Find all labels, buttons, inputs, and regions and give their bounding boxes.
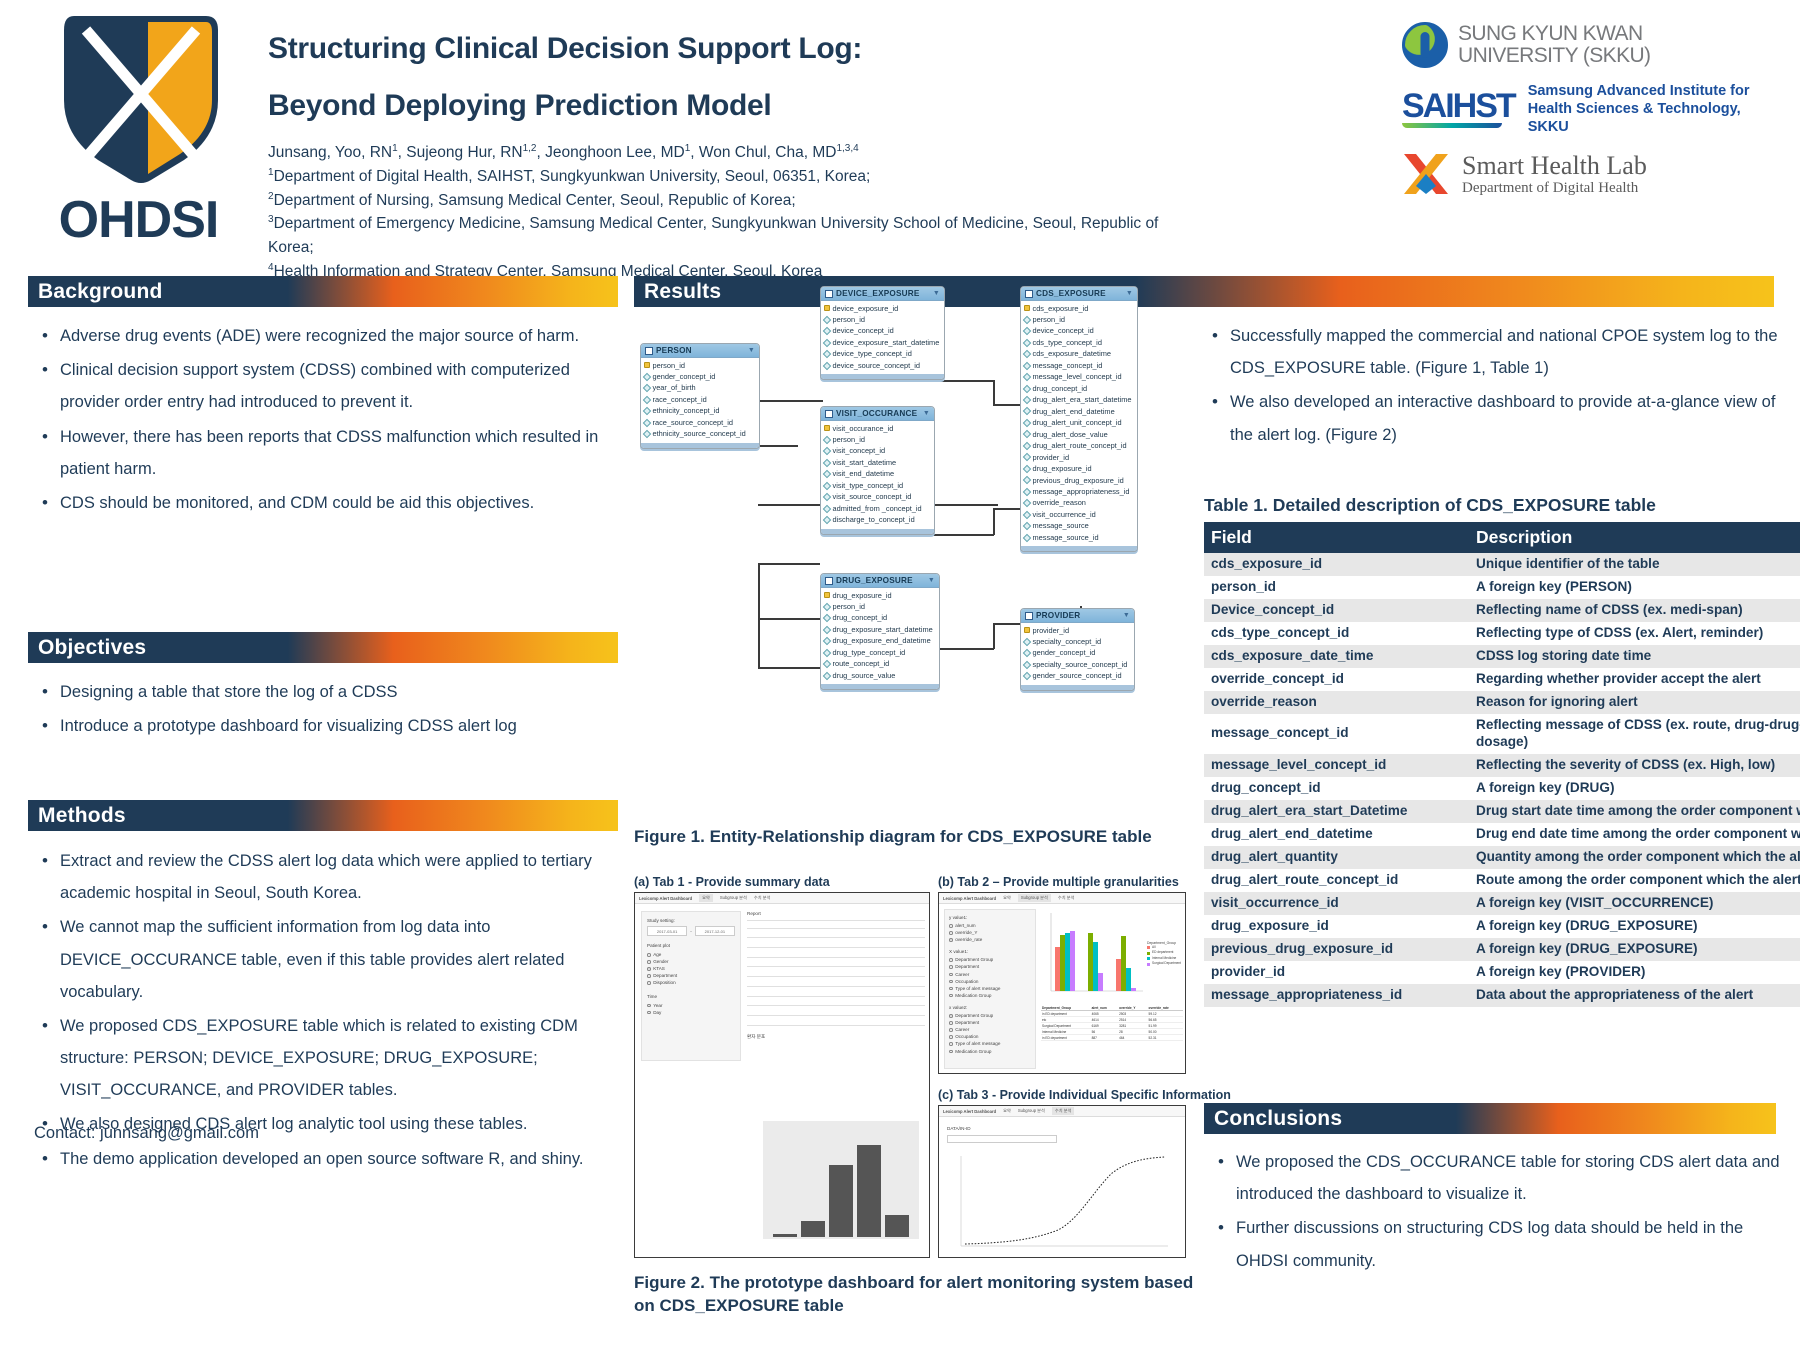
tab2-grouped-bar-chart bbox=[1041, 911, 1145, 999]
er-field-name: cds_exposure_id bbox=[1033, 303, 1089, 314]
er-field-name: person_id bbox=[833, 601, 865, 612]
er-entity-fields: drug_exposure_idperson_iddrug_concept_id… bbox=[821, 588, 939, 684]
radio-icon[interactable] bbox=[949, 1035, 953, 1039]
patient-plot-radio-group[interactable]: AgeGenderKTASDepartmentDisposition bbox=[642, 951, 740, 987]
radio-icon[interactable] bbox=[949, 980, 953, 984]
dashboard-topbar: Lexicomp Alert Dashboard 요약 Subgroup 분석 … bbox=[939, 1106, 1185, 1117]
background-bullet: Adverse drug events (ADE) were recognize… bbox=[34, 320, 614, 352]
foreign-key-icon bbox=[1023, 373, 1031, 381]
table-icon bbox=[1025, 290, 1033, 298]
table1-field: drug_alert_era_start_Datetime bbox=[1204, 800, 1469, 823]
table1-description: Data about the appropriateness of the al… bbox=[1469, 984, 1800, 1007]
dashboard-tab-c-title: (c) Tab 3 - Provide Individual Specific … bbox=[938, 1088, 1231, 1102]
er-field-name: override_reason bbox=[1033, 497, 1086, 508]
poster-title-line2: Beyond Deploying Prediction Model bbox=[268, 85, 1188, 128]
radio-icon[interactable] bbox=[949, 1050, 953, 1054]
table-cell: 52.31 bbox=[1148, 1035, 1183, 1041]
histogram-bar bbox=[829, 1165, 853, 1237]
patient-plot-option[interactable]: Disposition bbox=[647, 979, 740, 986]
er-field: visit_source_concept_id bbox=[824, 491, 931, 502]
er-connector bbox=[993, 623, 1020, 625]
er-field: message_concept_id bbox=[1024, 360, 1134, 371]
er-field: override_reason bbox=[1024, 497, 1134, 508]
foreign-key-icon bbox=[823, 481, 831, 489]
option-label: Medication Group bbox=[955, 993, 991, 998]
radio-icon[interactable] bbox=[949, 938, 953, 942]
foreign-key-icon bbox=[823, 435, 831, 443]
saihst-logo-text: Samsung Advanced Institute for Health Sc… bbox=[1528, 82, 1772, 136]
histogram-bar bbox=[773, 1234, 797, 1237]
er-connector bbox=[758, 667, 820, 669]
patient-plot-option[interactable]: KTAS bbox=[647, 965, 740, 972]
legend-swatch-icon bbox=[1147, 957, 1150, 960]
er-field: person_id bbox=[824, 601, 936, 612]
section-header-objectives: Objectives bbox=[28, 632, 618, 663]
radio-icon[interactable] bbox=[949, 1021, 953, 1025]
radio-icon[interactable] bbox=[949, 973, 953, 977]
tab2-control-panel: y value1: alert_numoverride_Yoverride_ra… bbox=[944, 909, 1036, 1069]
er-field: person_id bbox=[824, 314, 941, 325]
er-field-name: drug_exposure_start_datetime bbox=[833, 624, 933, 635]
option-label: Year bbox=[653, 1003, 662, 1008]
poster-title-line1: Structuring Clinical Decision Support Lo… bbox=[268, 28, 1188, 71]
foreign-key-icon bbox=[1023, 361, 1031, 369]
er-entity-provider: PROVIDER▼provider_idspecialty_concept_id… bbox=[1020, 608, 1135, 691]
xvalue-option[interactable]: Type of alert message bbox=[949, 985, 1035, 992]
section-header-results: Results bbox=[634, 276, 1774, 307]
er-field-name: race_source_concept_id bbox=[653, 417, 734, 428]
er-field-name: visit_source_concept_id bbox=[833, 491, 912, 502]
saihst-mark: SAIHST bbox=[1402, 90, 1515, 128]
table1-col-field: Field bbox=[1204, 522, 1469, 553]
er-field: race_concept_id bbox=[644, 394, 756, 405]
er-connector bbox=[993, 404, 1020, 406]
foreign-key-icon bbox=[1023, 407, 1031, 415]
xvalue2-option[interactable]: Department Group bbox=[949, 1012, 1035, 1019]
foreign-key-icon bbox=[1023, 499, 1031, 507]
dashboard-screenshot-tab3[interactable]: Lexicomp Alert Dashboard 요약 Subgroup 분석 … bbox=[938, 1105, 1186, 1258]
option-label: KTAS bbox=[653, 966, 665, 971]
foreign-key-icon bbox=[1023, 396, 1031, 404]
xvalue2-option[interactable]: Career bbox=[949, 1026, 1035, 1033]
foreign-key-icon bbox=[1023, 453, 1031, 461]
er-field: drug_type_concept_id bbox=[824, 647, 936, 658]
er-entity-fields: visit_occurance_idperson_idvisit_concept… bbox=[821, 421, 934, 529]
background-bullet-list: Adverse drug events (ADE) were recognize… bbox=[34, 320, 614, 521]
xvalue-option[interactable]: Department Group bbox=[949, 956, 1035, 963]
tab-numeric[interactable]: 수치 분석 bbox=[1052, 1107, 1075, 1115]
foreign-key-icon bbox=[643, 372, 651, 380]
er-entity-footer bbox=[821, 529, 934, 534]
foreign-key-icon bbox=[823, 361, 831, 369]
table1-row: previous_drug_exposure_idA foreign key (… bbox=[1204, 938, 1800, 961]
partner-logos: SUNG KYUN KWAN UNIVERSITY (SKKU) SAIHST … bbox=[1402, 22, 1772, 212]
er-field-name: visit_occurrence_id bbox=[1033, 509, 1096, 520]
chevron-down-icon: ▼ bbox=[928, 577, 935, 584]
er-entity-footer bbox=[821, 684, 939, 689]
er-field: provider_id bbox=[1024, 625, 1131, 636]
table1-row: provider_idA foreign key (PROVIDER) bbox=[1204, 961, 1800, 984]
er-field: device_source_concept_id bbox=[824, 360, 941, 371]
xvalue-radio-group[interactable]: Department GroupDepartmentCareerOccupati… bbox=[945, 956, 1035, 999]
radio-icon[interactable] bbox=[949, 987, 953, 991]
option-label: Department Group bbox=[955, 957, 993, 962]
patient-plot-option[interactable]: Gender bbox=[647, 958, 740, 965]
tab2-data-table: Department_Groupalert_numoverride_Yoverr… bbox=[1041, 1005, 1183, 1041]
xvalue2-option[interactable]: Medication Group bbox=[949, 1048, 1035, 1055]
er-field: cds_exposure_datetime bbox=[1024, 348, 1134, 359]
er-field-name: message_concept_id bbox=[1033, 360, 1103, 371]
xvalue2-option[interactable]: Occupation bbox=[949, 1033, 1035, 1040]
conclusions-bullet: Further discussions on structuring CDS l… bbox=[1210, 1212, 1780, 1276]
table1-row: drug_concept_idA foreign key (DRUG) bbox=[1204, 777, 1800, 800]
option-label: Occupation bbox=[955, 979, 978, 984]
option-label: Medication Group bbox=[955, 1049, 991, 1054]
table1-field: override_concept_id bbox=[1204, 668, 1469, 691]
table1-row: override_concept_idRegarding whether pro… bbox=[1204, 668, 1800, 691]
skku-line1: SUNG KYUN KWAN bbox=[1458, 23, 1650, 45]
er-connector bbox=[934, 380, 994, 382]
foreign-key-icon bbox=[1023, 672, 1031, 680]
table1: Field Description cds_exposure_idUnique … bbox=[1204, 522, 1800, 1007]
table1-field: visit_occurrence_id bbox=[1204, 892, 1469, 915]
foreign-key-icon bbox=[823, 447, 831, 455]
radio-icon[interactable] bbox=[949, 1042, 953, 1046]
table1-row: visit_occurrence_idA foreign key (VISIT_… bbox=[1204, 892, 1800, 915]
foreign-key-icon bbox=[1023, 487, 1031, 495]
smart-health-lab-logo: Smart Health Lab Department of Digital H… bbox=[1402, 150, 1772, 198]
table1-row: cds_exposure_idUnique identifier of the … bbox=[1204, 553, 1800, 576]
er-field-name: specialty_concept_id bbox=[1033, 636, 1102, 647]
table1-field: cds_exposure_id bbox=[1204, 553, 1469, 576]
er-field-name: provider_id bbox=[1033, 452, 1070, 463]
ohdsi-mark-icon bbox=[56, 8, 226, 188]
er-field: drug_alert_end_datetime bbox=[1024, 406, 1134, 417]
histogram-bar bbox=[885, 1215, 909, 1237]
er-field-name: device_source_concept_id bbox=[833, 360, 921, 371]
er-field: message_appropriateness_id bbox=[1024, 486, 1134, 497]
table-icon bbox=[645, 347, 653, 355]
xvalue-option[interactable]: Department bbox=[949, 963, 1035, 970]
skku-line2: UNIVERSITY (SKKU) bbox=[1458, 45, 1650, 67]
tab-subgroup[interactable]: Subgroup 분석 bbox=[720, 895, 747, 901]
er-field-name: message_level_concept_id bbox=[1033, 371, 1122, 382]
objectives-bullet-list: Designing a table that store the log of … bbox=[34, 676, 614, 744]
er-field-name: admitted_from _concept_id bbox=[833, 503, 922, 514]
er-connector bbox=[758, 563, 760, 668]
legend-item: Surgical Department bbox=[1147, 961, 1181, 966]
foreign-key-icon bbox=[1023, 419, 1031, 427]
time-radio-group[interactable]: YearDay bbox=[642, 1002, 740, 1016]
er-field: previous_drug_exposure_id bbox=[1024, 475, 1134, 486]
contact-info: Contact: junnsang@gmail.com bbox=[34, 1124, 259, 1143]
chevron-down-icon: ▼ bbox=[1123, 612, 1130, 619]
table1-description: Reflecting message of CDSS (ex. route, d… bbox=[1469, 714, 1800, 754]
option-label: Department Group bbox=[955, 1013, 993, 1018]
table1-row: drug_alert_quantityQuantity among the or… bbox=[1204, 846, 1800, 869]
er-field: drug_alert_era_start_datetime bbox=[1024, 394, 1134, 405]
table1-row: message_appropriateness_idData about the… bbox=[1204, 984, 1800, 1007]
er-connector bbox=[758, 400, 823, 402]
saihst-logo: SAIHST Samsung Advanced Institute for He… bbox=[1402, 82, 1772, 136]
foreign-key-icon bbox=[1023, 522, 1031, 530]
radio-icon[interactable] bbox=[647, 960, 651, 964]
radio-icon[interactable] bbox=[949, 931, 953, 935]
table1-row: Device_concept_idReflecting name of CDSS… bbox=[1204, 599, 1800, 622]
radio-icon[interactable] bbox=[647, 953, 651, 957]
radio-icon[interactable] bbox=[949, 1028, 953, 1032]
er-field: visit_end_datetime bbox=[824, 468, 931, 479]
er-field: gender_source_concept_id bbox=[1024, 670, 1131, 681]
er-connector bbox=[993, 623, 995, 649]
table1-row: drug_exposure_idA foreign key (DRUG_EXPO… bbox=[1204, 915, 1800, 938]
radio-icon[interactable] bbox=[949, 1014, 953, 1018]
radio-icon[interactable] bbox=[949, 994, 953, 998]
er-field-name: drug_exposure_id bbox=[833, 590, 892, 601]
er-field: race_source_concept_id bbox=[644, 417, 756, 428]
radio-icon[interactable] bbox=[949, 958, 953, 962]
table1-col-description: Description bbox=[1469, 522, 1800, 553]
time-option[interactable]: Day bbox=[647, 1009, 740, 1016]
foreign-key-icon bbox=[823, 602, 831, 610]
radio-icon[interactable] bbox=[647, 981, 651, 985]
table1-description: Regarding whether provider accept the al… bbox=[1469, 668, 1800, 691]
table1-description: A foreign key (VISIT_OCCURRENCE) bbox=[1469, 892, 1800, 915]
er-field: device_type_concept_id bbox=[824, 348, 941, 359]
table1-field: message_concept_id bbox=[1204, 714, 1469, 754]
background-bullet: However, there has been reports that CDS… bbox=[34, 421, 614, 485]
table1-field: previous_drug_exposure_id bbox=[1204, 938, 1469, 961]
table1-field: override_reason bbox=[1204, 691, 1469, 714]
foreign-key-icon bbox=[643, 407, 651, 415]
er-field: admitted_from _concept_id bbox=[824, 503, 931, 514]
date-from-input[interactable]: 2017-03-01 bbox=[647, 926, 687, 936]
app-title: Lexicomp Alert Dashboard bbox=[639, 896, 692, 901]
foreign-key-icon bbox=[643, 418, 651, 426]
objectives-bullet: Designing a table that store the log of … bbox=[34, 676, 614, 708]
er-field-name: visit_type_concept_id bbox=[833, 480, 904, 491]
table1-field: message_appropriateness_id bbox=[1204, 984, 1469, 1007]
table1-row: cds_type_concept_idReflecting type of CD… bbox=[1204, 622, 1800, 645]
time-label: Time bbox=[647, 994, 740, 999]
tab-summary[interactable]: 요약 bbox=[699, 894, 713, 902]
foreign-key-icon bbox=[1023, 649, 1031, 657]
ohdsi-wordmark: OHDSI bbox=[36, 190, 241, 250]
chevron-down-icon: ▼ bbox=[923, 410, 930, 417]
yvalue-option[interactable]: override_rate bbox=[949, 936, 1035, 943]
er-field: device_concept_id bbox=[1024, 325, 1134, 336]
er-field-name: discharge_to_concept_id bbox=[833, 514, 915, 525]
er-field-name: specialty_source_concept_id bbox=[1033, 659, 1128, 670]
dashboard-screenshot-tab1[interactable]: Lexicomp Alert Dashboard 요약 Subgroup 분석 … bbox=[634, 892, 930, 1258]
tab-subgroup[interactable]: Subgroup 분석 bbox=[1018, 1108, 1045, 1114]
dashboard-topbar: Lexicomp Alert Dashboard 요약 Subgroup 분석 … bbox=[635, 893, 929, 904]
xvalue-option[interactable]: Career bbox=[949, 971, 1035, 978]
table1-field: person_id bbox=[1204, 576, 1469, 599]
er-entity-name: PERSON bbox=[656, 346, 692, 355]
radio-icon[interactable] bbox=[949, 965, 953, 969]
option-label: Type of alert message bbox=[955, 986, 1000, 991]
er-entity-header: DRUG_EXPOSURE▼ bbox=[821, 574, 939, 588]
er-field-name: message_source bbox=[1033, 520, 1089, 531]
table1-field: provider_id bbox=[1204, 961, 1469, 984]
er-field-name: message_appropriateness_id bbox=[1033, 486, 1130, 497]
foreign-key-icon bbox=[1023, 384, 1031, 392]
table1-description: Drug start date time among the order com… bbox=[1469, 800, 1800, 823]
conclusions-bullet-list: We proposed the CDS_OCCURANCE table for … bbox=[1210, 1146, 1780, 1279]
er-field-name: visit_occurance_id bbox=[833, 423, 894, 434]
er-entity-header: CDS_EXPOSURE▼ bbox=[1021, 287, 1137, 301]
tab1-histogram bbox=[763, 1121, 919, 1239]
er-entity-fields: provider_idspecialty_concept_idgender_co… bbox=[1021, 623, 1134, 685]
er-entity-name: DRUG_EXPOSURE bbox=[836, 576, 913, 585]
tab-numeric[interactable]: 수치 분석 bbox=[754, 895, 771, 901]
er-field-name: gender_concept_id bbox=[1033, 647, 1096, 658]
time-option[interactable]: Year bbox=[647, 1002, 740, 1009]
er-field-name: gender_source_concept_id bbox=[1033, 670, 1122, 681]
er-field-name: drug_exposure_id bbox=[1033, 463, 1092, 474]
foreign-key-icon bbox=[1023, 338, 1031, 346]
radio-icon[interactable] bbox=[647, 974, 651, 978]
poster-root: OHDSI Structuring Clinical Decision Supp… bbox=[0, 0, 1800, 1350]
skku-emblem-icon bbox=[1402, 22, 1448, 68]
table1-field: drug_alert_end_datetime bbox=[1204, 823, 1469, 846]
figure2-caption: Figure 2. The prototype dashboard for al… bbox=[634, 1272, 1194, 1318]
foreign-key-icon bbox=[823, 660, 831, 668]
saihst-line2: Health Sciences & Technology, SKKU bbox=[1528, 100, 1772, 136]
tab-subgroup[interactable]: Subgroup 분석 bbox=[1018, 894, 1051, 902]
er-field-name: person_id bbox=[653, 360, 685, 371]
er-field: person_id bbox=[1024, 314, 1134, 325]
foreign-key-icon bbox=[823, 338, 831, 346]
table1-row: drug_alert_end_datetimeDrug end date tim… bbox=[1204, 823, 1800, 846]
table-cell: 464 bbox=[1118, 1035, 1147, 1041]
skku-logo: SUNG KYUN KWAN UNIVERSITY (SKKU) bbox=[1402, 22, 1772, 68]
er-field-name: drug_alert_end_datetime bbox=[1033, 406, 1115, 417]
foreign-key-icon bbox=[1023, 533, 1031, 541]
er-field-name: device_exposure_start_datetime bbox=[833, 337, 940, 348]
er-field-name: visit_concept_id bbox=[833, 445, 886, 456]
radio-icon[interactable] bbox=[949, 924, 953, 928]
foreign-key-icon bbox=[823, 315, 831, 323]
tab1-report-area: Report 환자 분포 bbox=[747, 911, 925, 1040]
er-entity-header: VISIT_OCCURANCE▼ bbox=[821, 407, 934, 421]
table1-field: drug_alert_quantity bbox=[1204, 846, 1469, 869]
xvalue2-option[interactable]: Department bbox=[949, 1019, 1035, 1026]
er-field: drug_concept_id bbox=[1024, 383, 1134, 394]
xvalue2-radio-group[interactable]: Department GroupDepartmentCareerOccupati… bbox=[945, 1012, 1035, 1055]
er-field-name: previous_drug_exposure_id bbox=[1033, 475, 1124, 486]
option-label: override_Y bbox=[955, 930, 977, 935]
er-connector bbox=[993, 508, 995, 535]
patient-plot-option[interactable]: Age bbox=[647, 951, 740, 958]
tab-numeric[interactable]: 수치 분석 bbox=[1058, 895, 1075, 901]
er-entity-header: DEVICE_EXPOSURE▼ bbox=[821, 287, 944, 301]
er-field: message_source bbox=[1024, 520, 1134, 531]
xvalue2-option[interactable]: Type of alert message bbox=[949, 1040, 1035, 1047]
xvalue-option[interactable]: Occupation bbox=[949, 978, 1035, 985]
radio-icon[interactable] bbox=[647, 967, 651, 971]
table-icon bbox=[825, 577, 833, 585]
foreign-key-icon bbox=[823, 493, 831, 501]
er-entity-fields: person_idgender_concept_idyear_of_birthr… bbox=[641, 358, 759, 443]
app-title: Lexicomp Alert Dashboard bbox=[943, 1109, 996, 1114]
primary-key-icon bbox=[824, 425, 830, 431]
er-field-name: drug_concept_id bbox=[833, 612, 888, 623]
background-bullet: Clinical decision support system (CDSS) … bbox=[34, 354, 614, 418]
er-connector bbox=[993, 380, 995, 404]
table1-description: A foreign key (PROVIDER) bbox=[1469, 961, 1800, 984]
table1-description: CDSS log storing date time bbox=[1469, 645, 1800, 668]
er-field: device_concept_id bbox=[824, 325, 941, 336]
table1-description: A foreign key (DRUG) bbox=[1469, 777, 1800, 800]
histogram-bar bbox=[801, 1221, 825, 1237]
table1-description: A foreign key (PERSON) bbox=[1469, 576, 1800, 599]
results-bullet: We also developed an interactive dashboa… bbox=[1204, 386, 1784, 450]
table1-description: Reason for ignoring alert bbox=[1469, 691, 1800, 714]
foreign-key-icon bbox=[643, 430, 651, 438]
er-field-name: device_concept_id bbox=[1033, 325, 1094, 336]
table1-field: drug_concept_id bbox=[1204, 777, 1469, 800]
tab3-id-input[interactable] bbox=[947, 1135, 1057, 1143]
table1-field: drug_alert_route_concept_id bbox=[1204, 869, 1469, 892]
methods-bullet: The demo application developed an open s… bbox=[34, 1143, 614, 1175]
table1-description: Reflecting name of CDSS (ex. medi-span) bbox=[1469, 599, 1800, 622]
dashboard-screenshot-tab2[interactable]: Lexicomp Alert Dashboard 요약 Subgroup 분석 … bbox=[938, 892, 1186, 1074]
radio-icon[interactable] bbox=[647, 1011, 651, 1015]
yvalue-option[interactable]: alert_num bbox=[949, 922, 1035, 929]
methods-bullet: We proposed CDS_EXPOSURE table which is … bbox=[34, 1010, 614, 1107]
er-field-name: drug_source_value bbox=[833, 670, 896, 681]
xvalue-option[interactable]: Medication Group bbox=[949, 992, 1035, 999]
er-field: ethnicity_concept_id bbox=[644, 405, 756, 416]
legend-swatch-icon bbox=[1147, 946, 1150, 949]
option-label: Department bbox=[653, 973, 677, 978]
foreign-key-icon bbox=[823, 470, 831, 478]
yvalue-label: y value1: bbox=[949, 915, 1035, 920]
report-label: Report bbox=[747, 911, 925, 916]
er-field: ethnicity_source_concept_id bbox=[644, 428, 756, 439]
er-field: drug_alert_dose_value bbox=[1024, 429, 1134, 440]
er-field: person_id bbox=[824, 434, 931, 445]
er-field: drug_alert_unit_concept_id bbox=[1024, 417, 1134, 428]
er-field: discharge_to_concept_id bbox=[824, 514, 931, 525]
foreign-key-icon bbox=[1023, 465, 1031, 473]
er-field: cds_exposure_id bbox=[1024, 303, 1134, 314]
er-field: cds_type_concept_id bbox=[1024, 337, 1134, 348]
yvalue-option[interactable]: override_Y bbox=[949, 929, 1035, 936]
report-placeholder-lines bbox=[747, 920, 925, 1025]
tab-summary[interactable]: 요약 bbox=[1003, 895, 1011, 901]
patient-plot-option[interactable]: Department bbox=[647, 972, 740, 979]
er-field: drug_exposure_id bbox=[824, 590, 936, 601]
yvalue-radio-group[interactable]: alert_numoverride_Yoverride_rate bbox=[945, 922, 1035, 943]
er-field-name: provider_id bbox=[1033, 625, 1070, 636]
er-field-name: ethnicity_source_concept_id bbox=[653, 428, 746, 439]
section-header-conclusions: Conclusions bbox=[1204, 1103, 1776, 1134]
tab-summary[interactable]: 요약 bbox=[1003, 1108, 1011, 1114]
er-field-name: device_concept_id bbox=[833, 325, 894, 336]
foreign-key-icon bbox=[1023, 350, 1031, 358]
option-label: alert_num bbox=[955, 923, 975, 928]
date-to-input[interactable]: 2017-12-01 bbox=[695, 926, 735, 936]
er-entity-footer bbox=[1021, 685, 1134, 690]
table1-field: Device_concept_id bbox=[1204, 599, 1469, 622]
radio-icon[interactable] bbox=[647, 1004, 651, 1008]
tab2-legend: Department_Group AllED departmentInterna… bbox=[1147, 941, 1181, 967]
app-title: Lexicomp Alert Dashboard bbox=[943, 896, 996, 901]
objectives-bullet: Introduce a prototype dashboard for visu… bbox=[34, 710, 614, 742]
